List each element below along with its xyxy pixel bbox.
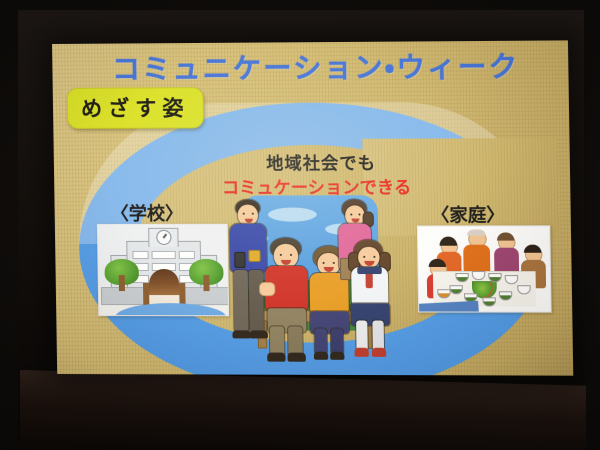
school-entrance-arch (149, 269, 180, 295)
home-foreground-blue (417, 301, 479, 313)
slide-canvas: コミュニケーション・ウィーク めざす姿 地域社会でも コミュケーションできる 〈… (52, 40, 573, 375)
tree-icon (189, 259, 224, 293)
hand (259, 282, 275, 296)
status-badge: めざす姿 (67, 87, 204, 129)
school-window (152, 251, 176, 259)
school-window (132, 251, 148, 259)
sailor-collar (357, 267, 382, 274)
label-home: 〈家庭〉 (431, 201, 505, 227)
school-window (179, 251, 195, 259)
projected-slide-photo: コミュニケーション・ウィーク めざす姿 地域社会でも コミュケーションできる 〈… (0, 0, 600, 450)
center-message-line1: 地域社会でも (204, 149, 438, 175)
tree-icon (104, 259, 139, 293)
school-building-illustration (97, 224, 229, 317)
family-dinner-illustration (417, 225, 552, 312)
label-school: 〈学校〉 (111, 200, 184, 226)
held-object (248, 250, 260, 262)
figure-seated-man-red (262, 238, 313, 365)
center-message-line2: コミュケーションできる (164, 173, 469, 199)
presentation-slide: コミュニケーション・ウィーク めざす姿 地域社会でも コミュケーションできる 〈… (52, 40, 573, 375)
cloud-shape (268, 207, 317, 221)
figure-seated-girl-uniform (348, 240, 395, 367)
page-title: コミュニケーション・ウィーク (86, 45, 546, 88)
clock-icon (156, 230, 171, 245)
held-object (234, 252, 245, 268)
community-group-on-bench-illustration (219, 193, 403, 375)
